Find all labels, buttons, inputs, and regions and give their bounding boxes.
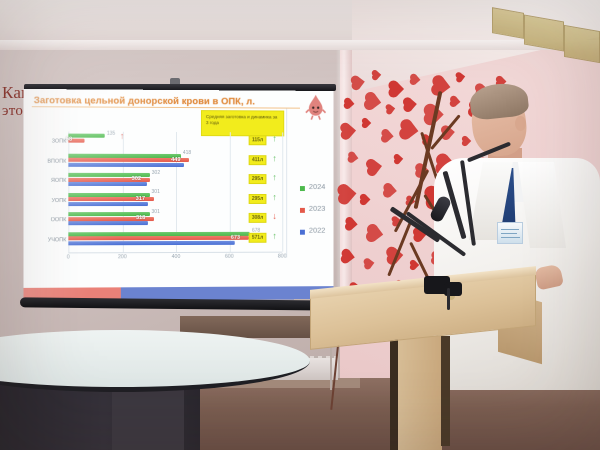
- chart-bar: [68, 221, 148, 225]
- summary-value-chip: 295л: [249, 194, 267, 204]
- heart-shape: [411, 75, 421, 85]
- legend-swatch: [300, 186, 305, 191]
- chart-bar: [68, 182, 146, 186]
- heart-shape: [342, 250, 355, 263]
- chart-bar-value: 673: [231, 235, 240, 241]
- chart-category-label: ООПК: [24, 217, 67, 223]
- chart-category-label: УЧОПК: [24, 237, 67, 243]
- heart-shape: [342, 124, 356, 138]
- chart-bar-value: 301: [151, 189, 159, 195]
- trend-arrow-icon: ↓: [272, 212, 276, 221]
- chart-bar-value: 302: [152, 169, 160, 175]
- chart-bar-value: 58: [66, 137, 72, 143]
- summary-value-chip: 571л: [249, 232, 267, 242]
- trend-arrow-icon: ↑: [272, 134, 276, 143]
- chart-bar-value: 418: [183, 150, 191, 156]
- wall-cabinet: [492, 7, 524, 39]
- summary-value-chip: 115л: [249, 135, 267, 145]
- heart-shape: [373, 71, 381, 79]
- chart-category-label: ЗОПК: [24, 138, 67, 144]
- blood-drop-mascot-icon: [305, 93, 327, 121]
- chart-category-label: ВПОПК: [24, 158, 67, 164]
- chart-bar: [68, 162, 184, 166]
- chart-gridline: [282, 132, 283, 251]
- x-axis-tick-label: 600: [225, 254, 234, 260]
- heart-shape: [366, 94, 381, 109]
- heart-shape: [365, 259, 375, 269]
- ceiling-edge: [0, 40, 600, 50]
- projection-screen: Заготовка цельной донорской крови в ОПК,…: [24, 89, 334, 301]
- speaker-ear: [515, 116, 526, 131]
- wall-cabinet: [564, 25, 600, 63]
- trend-arrow-icon: ↑: [272, 173, 276, 182]
- summary-value-chip: 308л: [249, 213, 267, 223]
- summary-value-chip: 295л: [249, 174, 267, 184]
- photo-scene: Кап это Заготовка цельной донорской кров…: [0, 0, 600, 450]
- trend-arrow-icon: ↑: [272, 231, 276, 240]
- summary-value-chip: 411л: [249, 155, 267, 165]
- heart-shape: [361, 195, 371, 205]
- heart-shape: [345, 99, 355, 109]
- trend-arrow-icon: ↑: [272, 193, 276, 202]
- chart-bar-value: 317: [136, 196, 145, 202]
- chart-category-label: УОПК: [24, 198, 67, 204]
- chart-trend-arrow-icon: ↑: [120, 132, 125, 141]
- trend-arrow-icon: ↑: [272, 154, 276, 163]
- heart-shape: [352, 76, 365, 89]
- slide-title: Заготовка цельной донорской крови в ОПК,…: [34, 94, 255, 106]
- heart-shape: [363, 119, 371, 127]
- microphone-stem: [447, 288, 450, 310]
- chart-bar: [68, 241, 234, 246]
- chart-divider: [286, 109, 287, 258]
- heart-shape: [368, 160, 382, 174]
- legend-label: 2024: [309, 182, 326, 191]
- heart-shape: [349, 153, 359, 163]
- title-underline: [32, 106, 300, 108]
- legend-label: 2023: [309, 204, 326, 213]
- x-axis-tick-label: 0: [67, 254, 70, 260]
- heart-shape: [368, 226, 383, 241]
- heart-shape: [382, 130, 393, 141]
- chart-bar-value: 135: [107, 130, 115, 136]
- heart-shape: [340, 186, 357, 203]
- legend-swatch: [300, 208, 305, 213]
- presentation-slide: Заготовка цельной донорской крови в ОПК,…: [24, 89, 334, 301]
- chart-bar: [68, 134, 104, 138]
- x-axis-tick-label: 400: [172, 254, 181, 260]
- chart-bar: [68, 202, 148, 206]
- heart-shape: [387, 105, 395, 113]
- speaker-name-badge: [497, 222, 523, 244]
- heart-shape: [390, 82, 404, 96]
- x-axis-tick-label: 200: [118, 254, 127, 260]
- podium-stem: [398, 336, 442, 450]
- heart-shape: [402, 122, 419, 139]
- heart-shape: [384, 184, 397, 197]
- podium-stem-shadow-right: [441, 336, 450, 446]
- heart-shape: [395, 155, 403, 163]
- legend-swatch: [300, 230, 305, 235]
- chart-bar-value: 449: [171, 157, 180, 163]
- chart-bar-value: 301: [151, 209, 159, 215]
- legend-label: 2022: [309, 226, 326, 235]
- chart-category-label: ЯОПК: [24, 178, 67, 184]
- heart-shape: [404, 98, 417, 111]
- heart-shape: [346, 218, 357, 229]
